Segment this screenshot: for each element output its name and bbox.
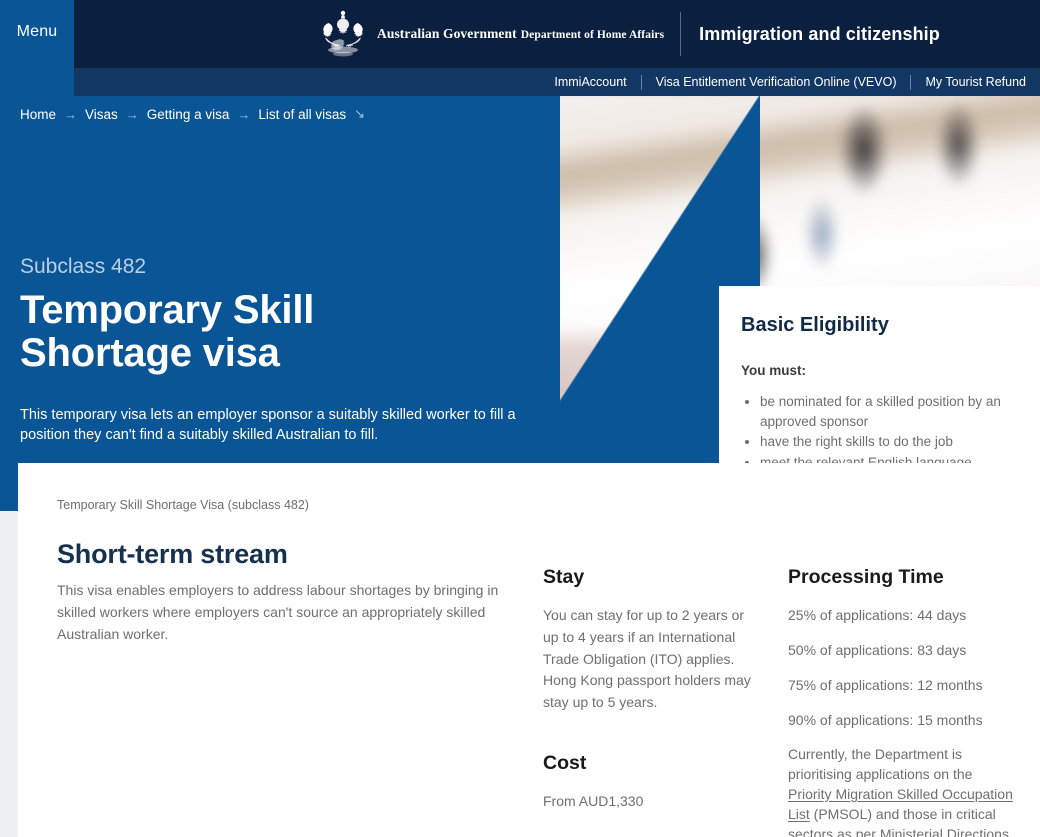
site-header: Australian Government Department of Home… xyxy=(0,0,1040,68)
eligibility-list: be nominated for a skilled position by a… xyxy=(741,392,1014,463)
breadcrumb-item-getting-a-visa[interactable]: Getting a visa xyxy=(147,107,230,122)
processing-note-after: (PMSOL) and those in critical sectors as… xyxy=(788,806,1013,837)
left-accent-bar xyxy=(0,463,18,511)
processing-note-before: Currently, the Department is prioritisin… xyxy=(788,746,972,782)
list-item: have the right skills to do the job xyxy=(760,432,1014,452)
utility-nav: ImmiAccount Visa Entitlement Verificatio… xyxy=(0,68,1040,96)
hero-text-block: Subclass 482 Temporary Skill Shortage vi… xyxy=(20,96,540,460)
nav-item-vevo[interactable]: Visa Entitlement Verification Online (VE… xyxy=(642,68,911,96)
processing-line: 75% of applications: 12 months xyxy=(788,675,1013,696)
gov-line-1: Australian Government xyxy=(377,26,517,41)
arrow-right-icon: → xyxy=(64,107,77,122)
page-root: Australian Government Department of Home… xyxy=(0,0,1040,837)
government-branding[interactable]: Australian Government Department of Home… xyxy=(315,8,940,60)
stream-heading: Short-term stream xyxy=(57,539,288,570)
processing-line: 50% of applications: 83 days xyxy=(788,640,1013,661)
arrow-down-right-icon[interactable]: ↘ xyxy=(354,106,365,122)
stay-heading: Stay xyxy=(543,566,763,589)
processing-heading: Processing Time xyxy=(788,566,1013,589)
gov-line-2: Department of Home Affairs xyxy=(521,29,664,41)
cost-heading: Cost xyxy=(543,752,763,775)
basic-eligibility-card: Basic Eligibility You must: be nominated… xyxy=(719,286,1040,463)
breadcrumb-item-visas[interactable]: Visas xyxy=(85,107,118,122)
cost-text: From AUD1,330 xyxy=(543,791,763,813)
menu-button[interactable]: Menu xyxy=(0,0,74,96)
arrow-right-icon: → xyxy=(126,107,139,122)
stream-intro: This visa enables employers to address l… xyxy=(57,580,523,645)
nav-item-tourist-refund[interactable]: My Tourist Refund xyxy=(911,68,1040,96)
hero-description: This temporary visa lets an employer spo… xyxy=(20,405,530,446)
site-title: Immigration and citizenship xyxy=(699,24,940,45)
breadcrumb-item-list-of-all-visas[interactable]: List of all visas xyxy=(258,107,346,122)
government-wordmark: Australian Government Department of Home… xyxy=(377,26,664,43)
utility-nav-items: ImmiAccount Visa Entitlement Verificatio… xyxy=(540,68,1040,96)
list-item: be nominated for a skilled position by a… xyxy=(760,392,1014,431)
stay-text: You can stay for up to 2 years or up to … xyxy=(543,605,763,714)
nav-item-immiaccount[interactable]: ImmiAccount xyxy=(540,68,640,96)
page-title: Temporary Skill Shortage visa xyxy=(20,289,490,375)
arrow-right-icon: → xyxy=(237,107,250,122)
menu-button-label: Menu xyxy=(4,23,70,41)
hero-banner: Home → Visas → Getting a visa → List of … xyxy=(0,96,1040,463)
processing-time-column: Processing Time 25% of applications: 44 … xyxy=(788,566,1013,837)
breadcrumb: Home → Visas → Getting a visa → List of … xyxy=(20,106,365,122)
hero-subclass: Subclass 482 xyxy=(20,255,540,279)
content-eyebrow: Temporary Skill Shortage Visa (subclass … xyxy=(57,498,309,512)
eligibility-title: Basic Eligibility xyxy=(741,314,1014,337)
processing-note: Currently, the Department is prioritisin… xyxy=(788,745,1013,837)
main-content: Temporary Skill Shortage Visa (subclass … xyxy=(18,463,1040,837)
stay-cost-column: Stay You can stay for up to 2 years or u… xyxy=(543,566,763,813)
processing-line: 90% of applications: 15 months xyxy=(788,710,1013,731)
australian-coat-of-arms-icon xyxy=(315,9,371,59)
eligibility-subtitle: You must: xyxy=(741,363,1014,378)
list-item: meet the relevant English language requi… xyxy=(760,453,1014,463)
header-divider xyxy=(680,12,681,56)
breadcrumb-item-home[interactable]: Home xyxy=(20,107,56,122)
processing-line: 25% of applications: 44 days xyxy=(788,605,1013,626)
